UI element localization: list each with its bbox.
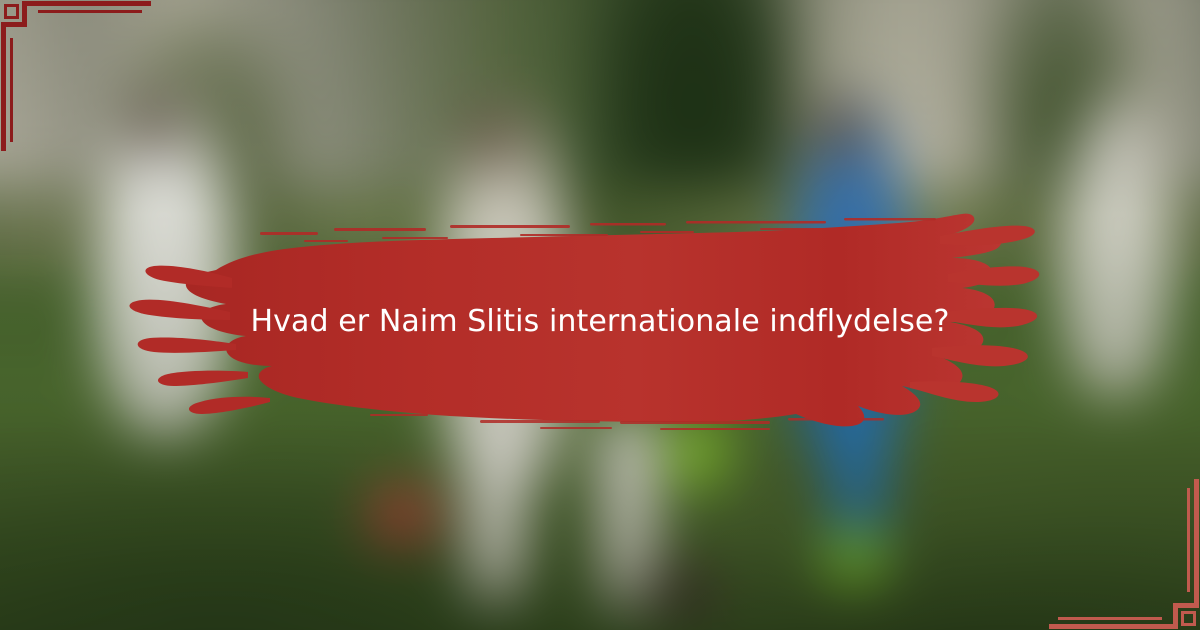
brush-drip-left-5 <box>189 397 270 414</box>
corner-line-vertical-thin <box>10 38 13 142</box>
corner-line-vertical-thick <box>1194 479 1199 603</box>
corner-line-horizontal-thin <box>38 10 142 13</box>
background-shoe-dark <box>641 563 722 616</box>
corner-ornament-bottom-right <box>1000 430 1200 630</box>
corner-square-icon <box>1181 611 1196 626</box>
corner-line-horizontal-thick <box>1049 624 1173 629</box>
page-title: Hvad er Naim Slitis internationale indfl… <box>0 300 1200 344</box>
corner-square-icon <box>4 4 19 19</box>
corner-line-vertical-thick <box>1 27 6 151</box>
background-shoe-red <box>369 488 437 541</box>
background-player-2-head <box>467 104 521 172</box>
corner-line-horizontal-thin <box>1058 617 1162 620</box>
question-card: Hvad er Naim Slitis internationale indfl… <box>0 0 1200 630</box>
background-player-3-head <box>817 97 866 161</box>
background-shoe-green-1 <box>824 533 886 582</box>
brush-drip-left-4 <box>158 371 248 386</box>
corner-line-horizontal-thick <box>27 1 151 6</box>
corner-ornament-top-left <box>0 0 200 200</box>
corner-line-vertical-thin <box>1187 488 1190 592</box>
brush-drip-right-5 <box>910 381 999 402</box>
corner-elbow-horizontal <box>1173 603 1199 608</box>
